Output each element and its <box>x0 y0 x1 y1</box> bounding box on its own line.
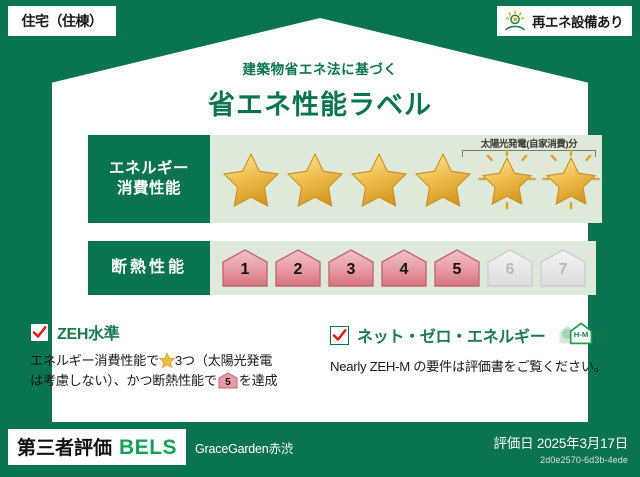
bels-en-label: BELS <box>119 436 177 460</box>
zeh-criteria-header: ZEH水準 <box>30 320 310 344</box>
energy-key-line2: 消費性能 <box>117 179 181 199</box>
insulation-grade-label: 2 <box>273 261 323 279</box>
inline-badge-value: 5 <box>218 375 238 390</box>
energy-performance-value: 太陽光発電(自家消費)分 <box>210 135 602 223</box>
solar-sun-icon <box>503 10 527 32</box>
zeh-criteria-column: ZEH水準 エネルギー消費性能で 3つ（太陽光発電 は考慮しない）、かつ断熱性能… <box>30 320 310 391</box>
renewable-equipment-badge: 再エネ設備あり <box>497 6 632 36</box>
zeh-body-part2: 3つ（太陽光発電 <box>175 353 272 368</box>
building-name: GraceGarden赤渋 <box>195 438 293 457</box>
netzero-criteria-column: ネット・ゼロ・エネルギー H-M Nearly ZEH-M Nearly ZEH… <box>330 320 610 391</box>
star-icon <box>284 148 346 210</box>
energy-star-rating <box>210 148 602 210</box>
evaluation-info: 評価日 2025年3月17日 2d0e2570-6d3b-4ede <box>493 432 628 465</box>
insulation-grade-3: 3 <box>326 248 376 288</box>
zeh-criteria-title: ZEH水準 <box>57 320 120 344</box>
insulation-grade-label: 4 <box>379 261 429 279</box>
insulation-key-label: 断熱性能 <box>111 258 187 278</box>
inline-star-icon <box>159 352 175 368</box>
energy-performance-row: エネルギー 消費性能 太陽光発電(自家消費)分 <box>88 135 596 223</box>
insulation-grade-label: 6 <box>485 261 535 279</box>
insulation-grade-1: 1 <box>220 248 270 288</box>
star-icon <box>412 148 474 210</box>
energy-label-root: 住宅（住棟） 再エネ設備あり 建築物省エネ法に基づく 省エネ性能ラベル <box>0 0 640 477</box>
checkbox-checked-icon <box>30 323 49 342</box>
dwelling-type-label: 住宅（住棟） <box>22 11 103 31</box>
zeh-criteria-body: エネルギー消費性能で 3つ（太陽光発電 は考慮しない）、かつ断熱性能で 5 を達… <box>30 351 310 391</box>
insulation-grade-label: 5 <box>432 261 482 279</box>
zeh-body-part4: を達成 <box>239 373 278 388</box>
dwelling-type-tag: 住宅（住棟） <box>8 6 116 36</box>
insulation-grade-label: 1 <box>220 261 270 279</box>
insulation-grade-5: 5 <box>432 248 482 288</box>
svg-text:ZEH-M: ZEH-M <box>595 336 609 341</box>
title-main: 省エネ性能ラベル <box>0 83 640 122</box>
zeh-body-part1: エネルギー消費性能で <box>30 353 159 368</box>
insulation-grade-4: 4 <box>379 248 429 288</box>
nearly-zeh-m-logo-icon: H-M Nearly ZEH-M <box>556 320 610 350</box>
svg-text:Nearly: Nearly <box>595 331 609 336</box>
insulation-grade-2: 2 <box>273 248 323 288</box>
energy-performance-key: エネルギー 消費性能 <box>88 135 210 223</box>
evaluation-date: 評価日 2025年3月17日 <box>493 432 628 452</box>
insulation-performance-value: 1 2 3 4 5 <box>210 241 596 295</box>
criteria-columns: ZEH水準 エネルギー消費性能で 3つ（太陽光発電 は考慮しない）、かつ断熱性能… <box>30 320 610 391</box>
star-icon <box>348 148 410 210</box>
bels-footer: 第三者評価 BELS GraceGarden赤渋 <box>8 429 293 465</box>
insulation-performance-key: 断熱性能 <box>88 241 210 295</box>
insulation-grade-6: 6 <box>485 248 535 288</box>
title-block: 建築物省エネ法に基づく 省エネ性能ラベル <box>0 58 640 122</box>
star-solar-icon <box>540 148 602 210</box>
energy-key-line1: エネルギー <box>109 159 189 179</box>
insulation-grade-label: 3 <box>326 261 376 279</box>
checkbox-checked-icon <box>330 326 349 345</box>
svg-text:H-M: H-M <box>574 330 589 339</box>
star-icon <box>220 148 282 210</box>
netzero-criteria-body: Nearly ZEH-M の要件は評価書をご覧ください。 <box>330 357 610 377</box>
title-subtitle: 建築物省エネ法に基づく <box>0 58 640 78</box>
evaluation-id: 2d0e2570-6d3b-4ede <box>493 455 628 465</box>
insulation-performance-row: 断熱性能 1 2 <box>88 241 596 295</box>
renewable-badge-label: 再エネ設備あり <box>532 11 623 31</box>
netzero-criteria-header: ネット・ゼロ・エネルギー H-M Nearly ZEH-M <box>330 320 610 350</box>
zeh-body-part3: は考慮しない）、かつ断熱性能で <box>30 373 217 388</box>
bels-jp-label: 第三者評価 <box>17 433 112 460</box>
insulation-grade-scale: 1 2 3 4 5 <box>210 248 588 288</box>
netzero-criteria-title: ネット・ゼロ・エネルギー <box>357 323 545 347</box>
star-solar-icon <box>476 148 538 210</box>
bels-logo-box: 第三者評価 BELS <box>8 429 186 465</box>
inline-insulation-badge: 5 <box>218 372 238 389</box>
insulation-grade-label: 7 <box>538 261 588 279</box>
insulation-grade-7: 7 <box>538 248 588 288</box>
